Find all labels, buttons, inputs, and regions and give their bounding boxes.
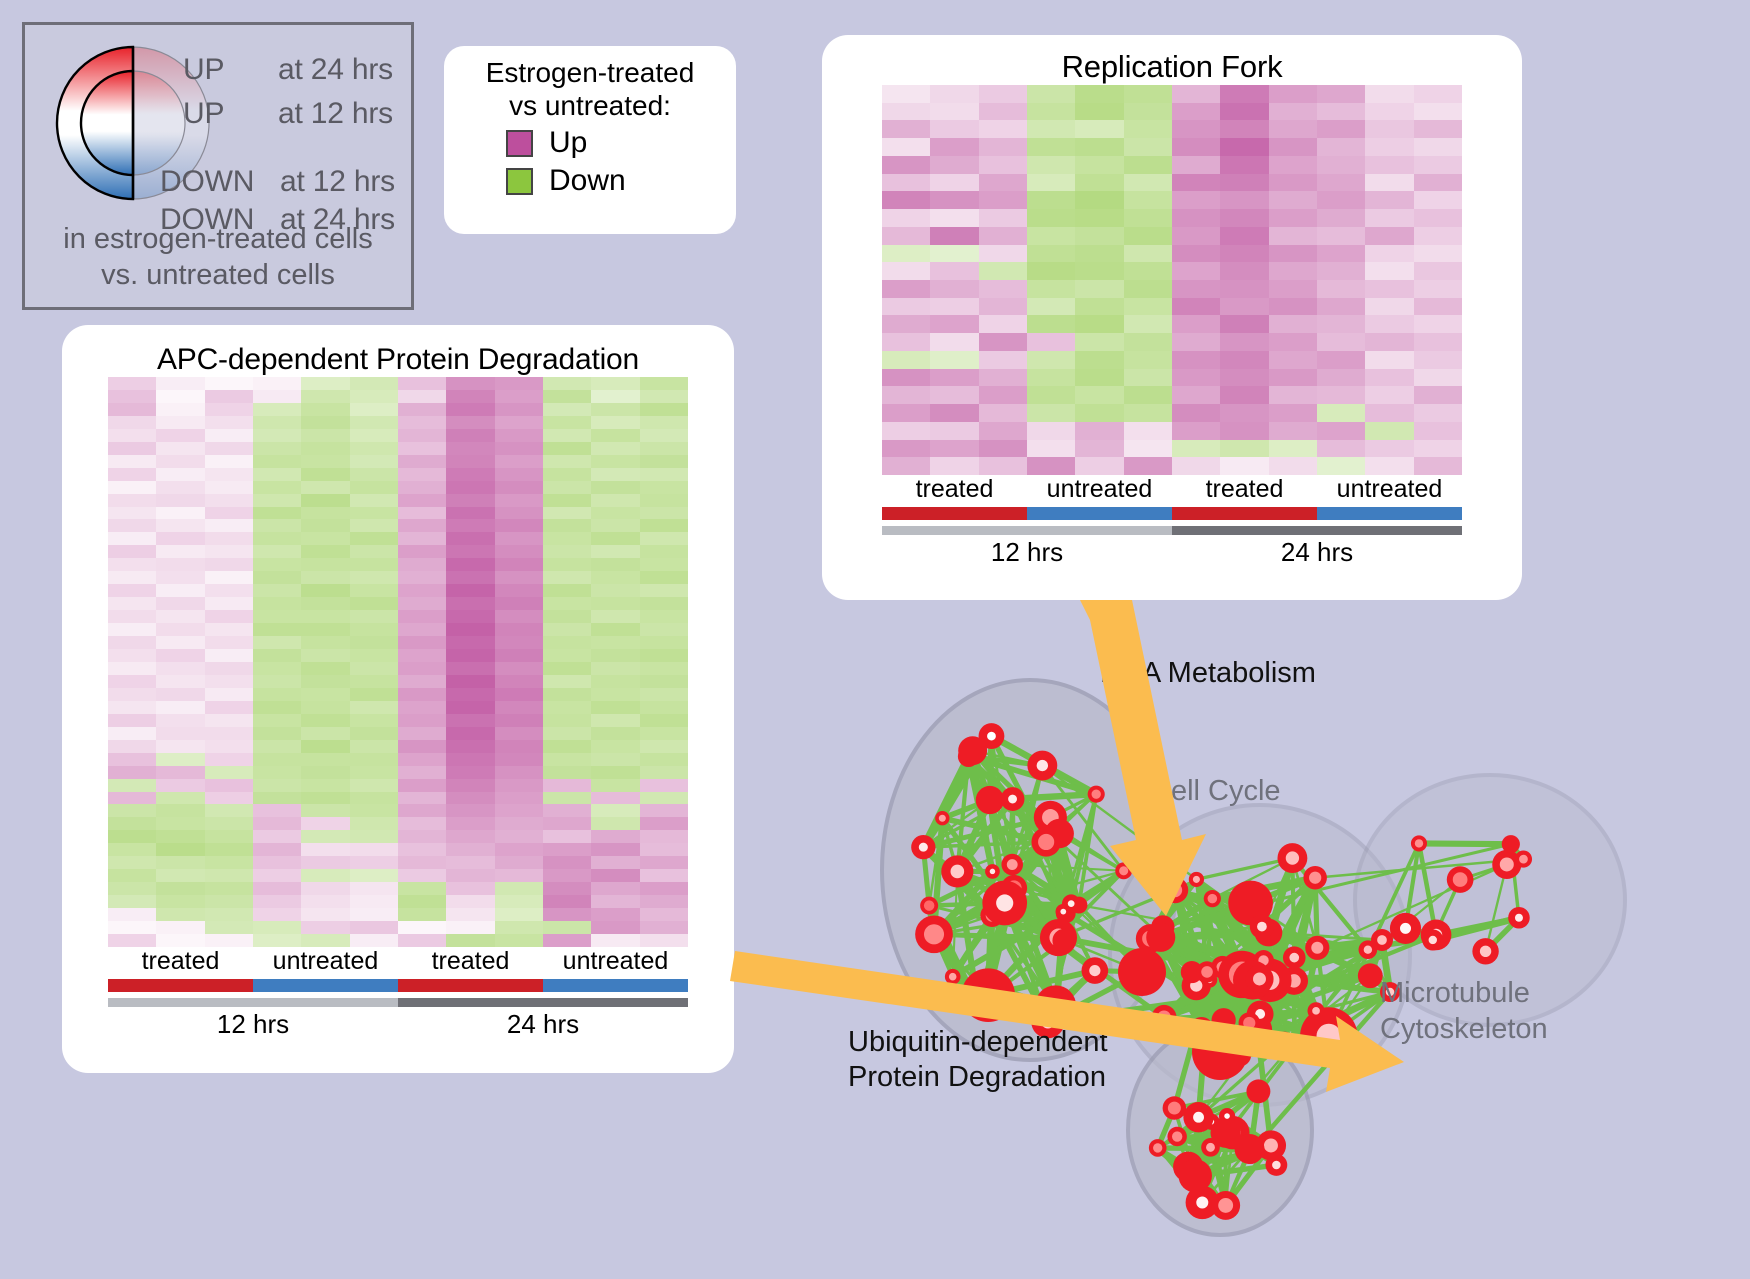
network-node[interactable] [1245,965,1273,993]
heatmap-cell [446,804,494,817]
network-node[interactable] [961,968,1015,1022]
heatmap-cell [205,804,253,817]
node-core [1193,876,1200,883]
node-core [1257,922,1267,932]
heatmap-cell [543,649,591,662]
heatmap-cell [446,882,494,895]
heatmap-cell [108,934,156,947]
heatmap-cell [1124,120,1172,138]
network-node[interactable] [945,969,961,985]
heatmap-cell [350,390,398,403]
network-node[interactable] [1031,827,1060,856]
network-node[interactable] [1422,929,1443,950]
heatmap-cell [1414,262,1462,280]
heatmap-cell [1317,227,1365,245]
heatmap-cell [543,584,591,597]
heatmap-cell [930,298,978,316]
network-node[interactable] [1088,786,1105,803]
node-core [1519,855,1528,864]
heatmap-cell [205,558,253,571]
heatmap-cell [253,377,301,390]
group-label: untreated [1027,475,1172,504]
heatmap-cell [543,804,591,817]
network-node[interactable] [1167,1127,1186,1146]
heatmap-cell [301,416,349,429]
heatmap-cell [301,377,349,390]
network-node[interactable] [920,897,938,915]
heatmap-cell [398,416,446,429]
heatmap-cell [882,245,930,263]
heatmap-cell [930,191,978,209]
heatmap-cell [591,442,639,455]
heatmap-cell [495,545,543,558]
heatmap-cell [930,245,978,263]
heatmap-cell [446,429,494,442]
heatmap-cell [398,753,446,766]
node-core [1008,795,1017,804]
node-outer [958,736,987,765]
heatmap-cell [108,481,156,494]
heatmap-cell [495,455,543,468]
heatmap-cell [1269,227,1317,245]
heatmap-cell [1172,209,1220,227]
heatmap-cell [350,584,398,597]
heatmap-cell [253,610,301,623]
heatmap-cell [1317,245,1365,263]
node-core [1092,789,1101,798]
heatmap-cell [108,623,156,636]
network-node[interactable] [1305,936,1329,960]
network-node[interactable] [1235,1134,1265,1164]
heatmap-cell [205,830,253,843]
heatmap-cell [205,662,253,675]
network-node[interactable] [1056,904,1072,920]
network-node[interactable] [1179,1159,1212,1192]
heatmap-cell [1365,103,1413,121]
heatmap-cell [1414,209,1462,227]
heatmap-cell [640,856,688,869]
heatmap-cell [591,843,639,856]
heatmap-cell [1075,262,1123,280]
apc-time-labels: 12 hrs24 hrs [108,1009,688,1040]
heatmap-cell [1220,386,1268,404]
heatmap-cell [205,792,253,805]
heatmap-cell [495,468,543,481]
heatmap-cell [301,675,349,688]
network-node[interactable] [1250,914,1274,938]
heatmap-cell [1172,440,1220,458]
heatmap-cell [1075,245,1123,263]
heatmap-cell [156,455,204,468]
heatmap-cell [398,843,446,856]
heatmap-cell [979,298,1027,316]
heatmap-cell [1317,209,1365,227]
heatmap-cell [1124,351,1172,369]
heatmap-cell [1124,404,1172,422]
network-node[interactable] [1149,1139,1167,1157]
heatmap-cell [495,532,543,545]
cluster-label-microtubule-cytoskeleton: Microtubule Cytoskeleton [1380,975,1548,1048]
network-node[interactable] [958,736,987,765]
heatmap-cell [1124,422,1172,440]
heatmap-cell [930,404,978,422]
network-node[interactable] [1358,963,1383,988]
network-node[interactable] [1472,938,1498,964]
heatmap-cell [495,662,543,675]
network-node[interactable] [976,786,1004,814]
heatmap-cell [1269,315,1317,333]
heatmap-cell [108,921,156,934]
heatmap-cell [882,120,930,138]
heatmap-cell [1414,440,1462,458]
heatmap-cell [156,688,204,701]
heatmap-cell [398,817,446,830]
network-node[interactable] [1411,835,1427,851]
heatmap-cell [591,895,639,908]
heatmap-cell [350,753,398,766]
heatmap-cell [495,675,543,688]
heatmap-cell [640,610,688,623]
network-node[interactable] [1115,862,1132,879]
apc-degradation-heatmap [108,377,688,947]
network-node[interactable] [1508,907,1530,929]
node-core [1317,1024,1342,1049]
network-node[interactable] [1204,890,1221,907]
network-node[interactable] [1043,991,1070,1018]
heatmap-cell [205,727,253,740]
replication-time-labels: 12 hrs24 hrs [882,537,1462,568]
heatmap-cell [640,494,688,507]
heatmap-cell [301,468,349,481]
heatmap-cell [1220,351,1268,369]
heatmap-cell [1317,280,1365,298]
network-node[interactable] [1189,872,1204,887]
legend-state-down-12: DOWN [160,165,254,199]
heatmap-cell [156,468,204,481]
heatmap-cell [930,120,978,138]
node-core [1429,936,1437,944]
network-node[interactable] [1515,851,1532,868]
heatmap-cell [1220,315,1268,333]
heatmap-cell [882,333,930,351]
heatmap-cell [108,519,156,532]
heatmap-cell [1124,227,1172,245]
heatmap-cell [398,584,446,597]
heatmap-cell [350,856,398,869]
network-node[interactable] [1152,1005,1177,1030]
heatmap-cell [591,792,639,805]
heatmap-cell [205,817,253,830]
heatmap-cell [640,481,688,494]
heatmap-cell [350,688,398,701]
heatmap-cell [156,610,204,623]
heatmap-cell [205,740,253,753]
heatmap-cell [1414,280,1462,298]
heatmap-cell [253,908,301,921]
heatmap-cell [495,519,543,532]
heatmap-cell [398,792,446,805]
heatmap-cell [253,649,301,662]
node-outer [1043,991,1070,1018]
heatmap-cell [108,429,156,442]
network-node[interactable] [941,855,973,887]
heatmap-cell [108,792,156,805]
network-node[interactable] [1118,948,1166,996]
heatmap-cell [108,610,156,623]
heatmap-cell [1365,440,1413,458]
heatmap-cell [205,494,253,507]
heatmap-cell [591,701,639,714]
heatmap-cell [1220,440,1268,458]
network-node[interactable] [1052,929,1076,953]
network-node[interactable] [1447,866,1474,893]
heatmap-cell [1414,138,1462,156]
heatmap-cell [301,921,349,934]
network-node[interactable] [1183,1102,1213,1132]
network-node[interactable] [1277,843,1307,873]
heatmap-cell [253,442,301,455]
heatmap-cell [543,817,591,830]
heatmap-cell [882,191,930,209]
apc-time-bar [108,998,688,1007]
heatmap-cell [398,377,446,390]
network-node[interactable] [1303,866,1327,890]
network-node[interactable] [911,835,935,859]
network-node[interactable] [1239,1012,1260,1033]
heatmap-cell [640,558,688,571]
heatmap-cell [1365,245,1413,263]
heatmap-cell [156,753,204,766]
updown-title-line1: Estrogen-treated [444,56,736,89]
heatmap-cell [301,727,349,740]
heatmap-cell [1027,191,1075,209]
heatmap-cell [1075,298,1123,316]
heatmap-cell [882,386,930,404]
heatmap-cell [930,227,978,245]
heatmap-cell [398,740,446,753]
heatmap-cell [156,934,204,947]
heatmap-cell [640,403,688,416]
heatmap-cell [1124,209,1172,227]
legend-state-up-24: UP [183,53,224,87]
heatmap-cell [205,623,253,636]
heatmap-cell [108,468,156,481]
node-outer [961,968,1015,1022]
heatmap-cell [591,494,639,507]
heatmap-cell [543,519,591,532]
heatmap-cell [398,519,446,532]
heatmap-cell [495,766,543,779]
heatmap-cell [979,315,1027,333]
heatmap-cell [446,623,494,636]
heatmap-cell [1269,262,1317,280]
node-core [1172,1131,1182,1141]
heatmap-cell [640,455,688,468]
heatmap-cell [253,636,301,649]
heatmap-cell [640,429,688,442]
heatmap-cell [108,701,156,714]
node-core [1089,965,1100,976]
heatmap-cell [205,532,253,545]
heatmap-cell [398,649,446,662]
heatmap-cell [108,908,156,921]
heatmap-cell [1124,298,1172,316]
heatmap-cell [1172,333,1220,351]
network-node[interactable] [1001,787,1025,811]
heatmap-cell [1269,85,1317,103]
heatmap-cell [398,403,446,416]
heatmap-cell [495,753,543,766]
network-node[interactable] [1211,1191,1240,1220]
heatmap-cell [108,740,156,753]
heatmap-cell [205,584,253,597]
heatmap-cell [640,895,688,908]
network-node[interactable] [935,811,949,825]
heatmap-cell [156,675,204,688]
network-node[interactable] [1390,913,1421,944]
heatmap-cell [301,830,349,843]
network-node[interactable] [1246,1079,1270,1103]
heatmap-cell [398,714,446,727]
network-node[interactable] [915,915,953,953]
network-node[interactable] [1371,929,1393,951]
network-node[interactable] [1163,1096,1187,1120]
heatmap-cell [930,156,978,174]
heatmap-cell [1414,156,1462,174]
heatmap-cell [205,675,253,688]
heatmap-cell [398,688,446,701]
heatmap-cell [446,921,494,934]
heatmap-cell [301,843,349,856]
heatmap-cell [1269,422,1317,440]
heatmap-cell [350,636,398,649]
heatmap-cell [1027,315,1075,333]
network-node[interactable] [1502,835,1520,853]
heatmap-cell [979,174,1027,192]
heatmap-cell [979,85,1027,103]
heatmap-cell [882,315,930,333]
heatmap-cell [543,740,591,753]
heatmap-cell [350,416,398,429]
heatmap-cell [350,882,398,895]
heatmap-cell [1172,138,1220,156]
network-node[interactable] [1300,1007,1357,1064]
heatmap-cell [495,649,543,662]
heatmap-cell [398,545,446,558]
heatmap-cell [108,779,156,792]
heatmap-cell [398,532,446,545]
heatmap-cell [1075,103,1123,121]
heatmap-cell [1220,245,1268,263]
group-label: treated [398,947,543,976]
heatmap-cell [882,422,930,440]
group-label: untreated [253,947,398,976]
network-node[interactable] [1307,1002,1324,1019]
heatmap-cell [301,649,349,662]
heatmap-cell [156,895,204,908]
heatmap-cell [543,403,591,416]
heatmap-cell [446,727,494,740]
heatmap-cell [253,701,301,714]
heatmap-cell [205,779,253,792]
heatmap-cell [446,869,494,882]
heatmap-cell [1027,351,1075,369]
heatmap-cell [495,817,543,830]
heatmap-cell [253,869,301,882]
network-edge [1419,843,1511,844]
heatmap-cell [1075,174,1123,192]
heatmap-cell [1124,191,1172,209]
heatmap-cell [979,422,1027,440]
heatmap-cell [1365,298,1413,316]
heatmap-cell [398,856,446,869]
heatmap-cell [543,597,591,610]
node-core [1007,859,1018,870]
network-node[interactable] [1082,957,1109,984]
heatmap-cell [446,494,494,507]
heatmap-cell [446,856,494,869]
heatmap-cell [930,333,978,351]
heatmap-cell [301,442,349,455]
heatmap-cell [446,779,494,792]
network-node[interactable] [1146,923,1175,952]
heatmap-cell [398,571,446,584]
heatmap-cell [1365,120,1413,138]
heatmap-cell [108,882,156,895]
network-node[interactable] [982,881,1027,926]
heatmap-cell [640,545,688,558]
heatmap-cell [979,103,1027,121]
network-node[interactable] [1162,877,1188,903]
heatmap-cell [446,442,494,455]
node-core [987,732,996,741]
heatmap-cell [156,921,204,934]
heatmap-cell [253,545,301,558]
network-node[interactable] [985,864,1000,879]
network-node[interactable] [1283,946,1306,969]
heatmap-cell [301,804,349,817]
heatmap-cell [591,869,639,882]
replication-fork-heatmap [882,85,1462,475]
heatmap-cell [543,571,591,584]
network-node[interactable] [1274,1032,1294,1052]
heatmap-cell [1075,351,1123,369]
heatmap-cell [1124,85,1172,103]
network-node[interactable] [1192,1024,1248,1080]
heatmap-cell [398,468,446,481]
heatmap-cell [543,507,591,520]
heatmap-cell [591,921,639,934]
heatmap-cell [156,519,204,532]
heatmap-cell [979,386,1027,404]
heatmap-cell [205,688,253,701]
group-label: untreated [1317,475,1462,504]
heatmap-cell [495,481,543,494]
heatmap-cell [495,740,543,753]
heatmap-cell [1414,120,1462,138]
timepoint-label: 12 hrs [108,1009,398,1040]
network-node[interactable] [1196,961,1217,982]
node-outer [1192,1024,1248,1080]
network-node[interactable] [1001,854,1023,876]
heatmap-cell [1365,174,1413,192]
network-node[interactable] [1219,1108,1235,1124]
heatmap-cell [108,766,156,779]
heatmap-cell [156,597,204,610]
network-node[interactable] [1027,751,1057,781]
network-node[interactable] [966,993,989,1016]
heatmap-cell [1172,245,1220,263]
